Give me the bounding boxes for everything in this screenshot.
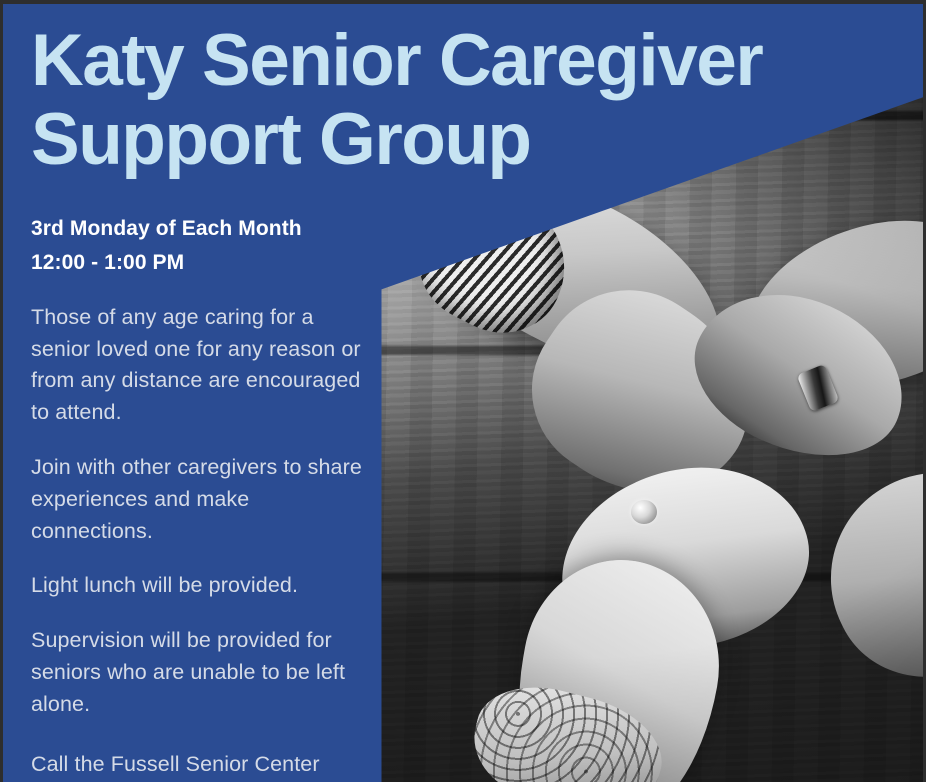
paragraph-supervision: Supervision will be provided for seniors… [31, 625, 374, 720]
flyer-poster: Katy Senior Caregiver Support Group 3rd … [0, 0, 926, 782]
title-line-2: Support Group [31, 101, 374, 180]
schedule-day: 3rd Monday of Each Month [31, 212, 374, 246]
contact-block: Call the Fussell Senior Center with ques… [31, 749, 374, 782]
contact-line-1: Call the Fussell Senior Center [31, 749, 374, 781]
title-line-1: Katy Senior Caregiver [31, 22, 374, 101]
schedule-block: 3rd Monday of Each Month 12:00 - 1:00 PM [31, 212, 374, 280]
paragraph-eligibility: Those of any age caring for a senior lov… [31, 302, 374, 429]
paragraph-lunch: Light lunch will be provided. [31, 570, 374, 602]
paragraph-purpose: Join with other caregivers to share expe… [31, 452, 374, 547]
schedule-time: 12:00 - 1:00 PM [31, 246, 374, 280]
page-title: Katy Senior Caregiver Support Group [31, 22, 374, 180]
flyer-content: Katy Senior Caregiver Support Group 3rd … [0, 0, 392, 782]
